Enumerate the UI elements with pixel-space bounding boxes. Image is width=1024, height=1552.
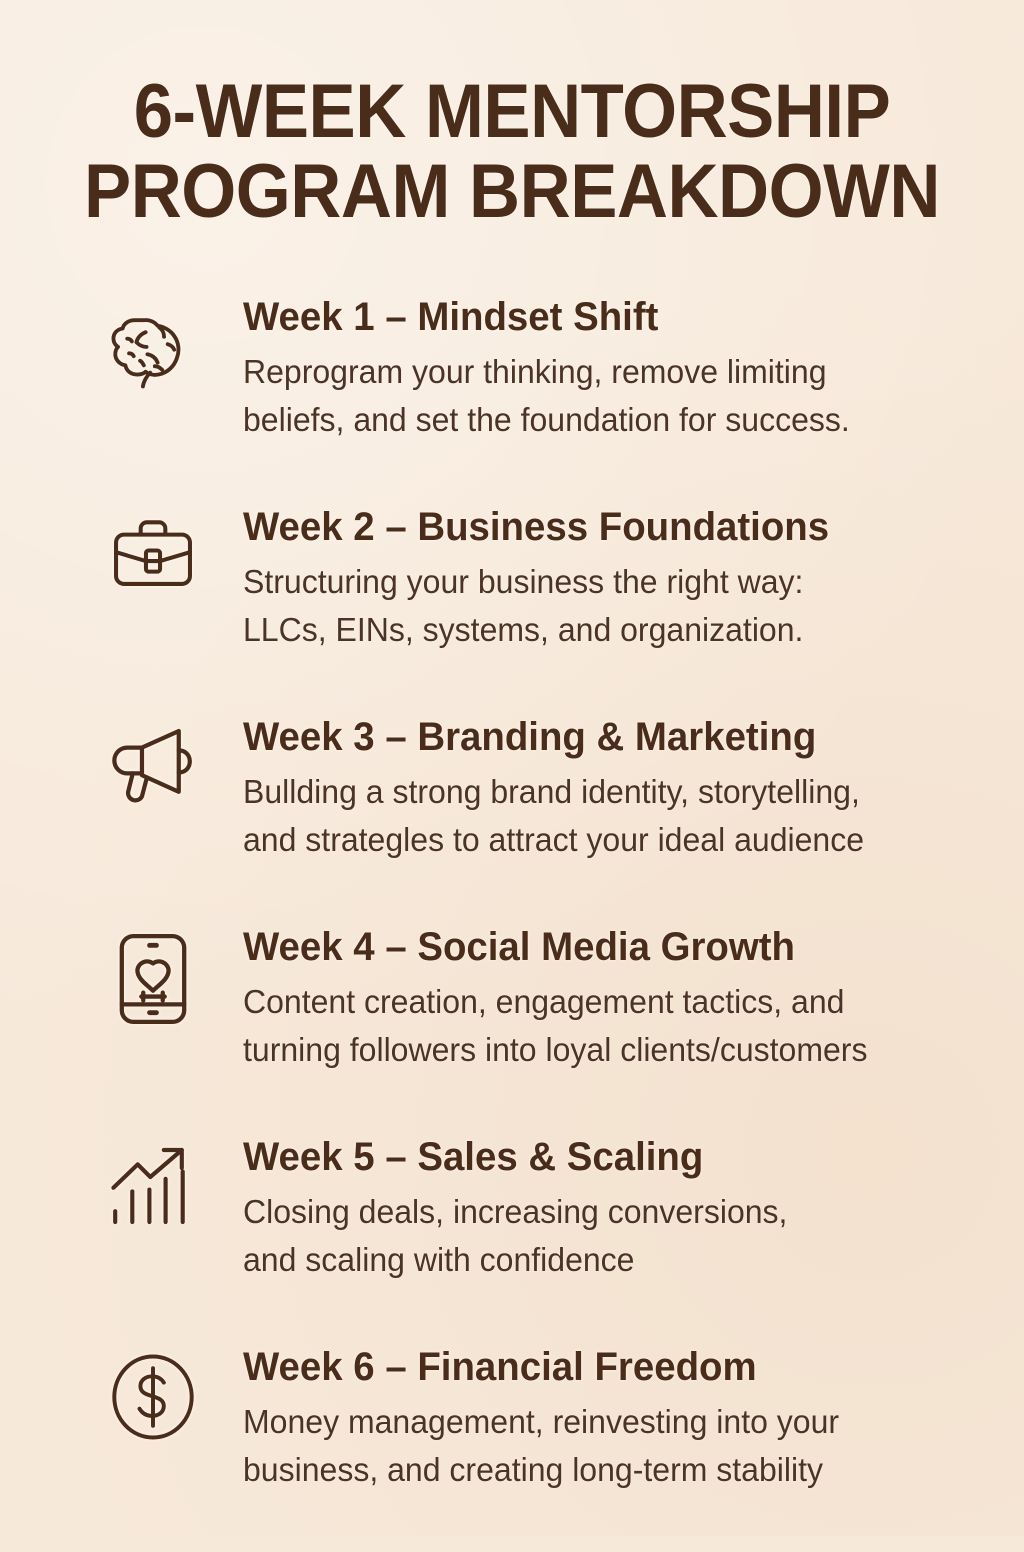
page-title-line-1: 6-WEEK MENTORSHIP: [36, 72, 988, 152]
week-heading-4: Week 4 – Social Media Growth: [243, 922, 973, 972]
week-text-3: Week 3 – Branding & Marketing Bullding a…: [243, 712, 1003, 864]
week-description-5: Closing deals, increasing conversions, a…: [243, 1188, 980, 1284]
week-heading-3: Week 3 – Branding & Marketing: [243, 712, 973, 762]
week-text-4: Week 4 – Social Media Growth Content cre…: [243, 922, 1003, 1074]
week-description-6: Money management, reinvesting into your …: [243, 1398, 980, 1494]
page-title-line-2: PROGRAM BREAKDOWN: [36, 152, 988, 232]
week-description-3: Bullding a strong brand identity, storyt…: [243, 768, 980, 864]
week-item-5: Week 5 – Sales & Scaling Closing deals, …: [0, 1132, 1024, 1342]
infographic-page: 6-WEEK MENTORSHIP PROGRAM BREAKDOWN: [0, 0, 1024, 1536]
week-text-1: Week 1 – Mindset Shift Reprogram your th…: [243, 292, 1003, 444]
megaphone-icon: [105, 720, 201, 824]
week-heading-1: Week 1 – Mindset Shift: [243, 292, 973, 342]
dollar-circle-icon: [105, 1350, 201, 1454]
week-heading-6: Week 6 – Financial Freedom: [243, 1342, 973, 1392]
week-list: Week 1 – Mindset Shift Reprogram your th…: [0, 292, 1024, 1552]
week-text-2: Week 2 – Business Foundations Structurin…: [243, 502, 1003, 654]
week-item-4: Week 4 – Social Media Growth Content cre…: [0, 922, 1024, 1132]
week-heading-2: Week 2 – Business Foundations: [243, 502, 973, 552]
phone-heart-icon: [105, 930, 201, 1034]
week-description-2: Structuring your business the right way:…: [243, 558, 980, 654]
week-item-1: Week 1 – Mindset Shift Reprogram your th…: [0, 292, 1024, 502]
page-title: 6-WEEK MENTORSHIP PROGRAM BREAKDOWN: [0, 72, 1024, 232]
week-heading-5: Week 5 – Sales & Scaling: [243, 1132, 973, 1182]
week-item-3: Week 3 – Branding & Marketing Bullding a…: [0, 712, 1024, 922]
growth-chart-icon: [105, 1140, 201, 1244]
week-description-4: Content creation, engagement tactics, an…: [243, 978, 980, 1074]
brain-icon: [105, 300, 201, 404]
briefcase-icon: [105, 510, 201, 614]
week-item-6: Week 6 – Financial Freedom Money managem…: [0, 1342, 1024, 1552]
week-text-6: Week 6 – Financial Freedom Money managem…: [243, 1342, 1003, 1494]
week-text-5: Week 5 – Sales & Scaling Closing deals, …: [243, 1132, 1003, 1284]
week-item-2: Week 2 – Business Foundations Structurin…: [0, 502, 1024, 712]
week-description-1: Reprogram your thinking, remove limiting…: [243, 348, 980, 444]
